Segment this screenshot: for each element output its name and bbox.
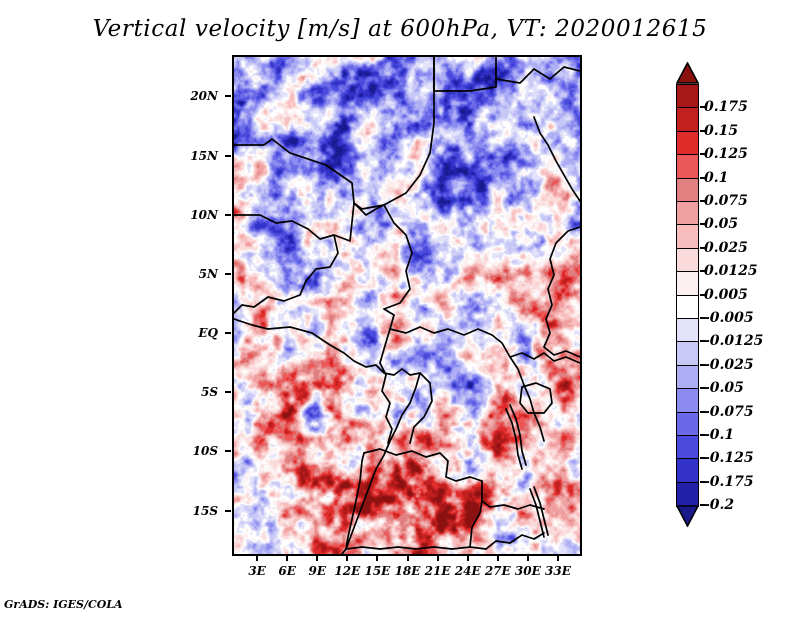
- footer-credit: GrADS: IGES/COLA: [4, 598, 123, 611]
- lon-label-9e: 9E: [308, 564, 326, 578]
- colorbar-label: -0.125: [704, 450, 754, 466]
- colorbar-bin: [676, 224, 699, 249]
- colorbar-label: 0.125: [704, 146, 748, 162]
- colorbar-bin: [676, 341, 699, 366]
- colorbar-label: 0.025: [704, 240, 748, 256]
- colorbar: [676, 62, 699, 555]
- colorbar-bin: [676, 295, 699, 320]
- page-title: Vertical velocity [m/s] at 600hPa, VT: 2…: [0, 16, 800, 42]
- lon-tick: [467, 555, 469, 561]
- colorbar-label: 0.175: [704, 99, 748, 115]
- colorbar-bin: [676, 271, 699, 296]
- colorbar-max-arrow: [676, 62, 699, 84]
- lat-tick: [225, 95, 231, 97]
- colorbar-bin: [676, 388, 699, 413]
- lat-tick: [225, 391, 231, 393]
- colorbar-label: 0.005: [704, 287, 748, 303]
- lon-tick: [256, 555, 258, 561]
- lat-label-10s: 10S: [164, 444, 218, 458]
- colorbar-label: 0.0125: [704, 263, 758, 279]
- colorbar-bin: [676, 154, 699, 179]
- colorbar-label: -0.005: [704, 310, 754, 326]
- lon-tick: [557, 555, 559, 561]
- lon-tick: [437, 555, 439, 561]
- colorbar-bin: [676, 248, 699, 273]
- lat-label-5n: 5N: [164, 267, 218, 281]
- lat-label-15s: 15S: [164, 504, 218, 518]
- colorbar-label: -0.025: [704, 357, 754, 373]
- lon-label-30e: 30E: [515, 564, 541, 578]
- lat-tick: [225, 273, 231, 275]
- lon-label-18e: 18E: [395, 564, 421, 578]
- lat-label-15n: 15N: [164, 149, 218, 163]
- lon-tick: [376, 555, 378, 561]
- lat-tick: [225, 450, 231, 452]
- lon-label-15e: 15E: [364, 564, 390, 578]
- colorbar-bin: [676, 482, 699, 507]
- colorbar-min-arrow: [676, 505, 699, 527]
- colorbar-bin: [676, 178, 699, 203]
- colorbar-label: -0.05: [704, 380, 744, 396]
- colorbar-bin: [676, 201, 699, 226]
- lat-tick: [225, 510, 231, 512]
- lat-tick: [225, 332, 231, 334]
- lat-label-20n: 20N: [164, 89, 218, 103]
- country-borders-overlay: [234, 57, 580, 554]
- lon-tick: [407, 555, 409, 561]
- colorbar-label: -0.1: [704, 427, 734, 443]
- lon-tick: [527, 555, 529, 561]
- lat-label-10n: 10N: [164, 208, 218, 222]
- colorbar-label: -0.2: [704, 497, 734, 513]
- lat-tick: [225, 214, 231, 216]
- colorbar-label: -0.0125: [704, 333, 763, 349]
- map-plot-area: [232, 55, 582, 556]
- lon-label-12e: 12E: [334, 564, 360, 578]
- colorbar-label: -0.175: [704, 474, 754, 490]
- colorbar-bin: [676, 365, 699, 390]
- lon-tick: [346, 555, 348, 561]
- colorbar-bin: [676, 131, 699, 156]
- lon-label-33e: 33E: [545, 564, 571, 578]
- lon-tick: [497, 555, 499, 561]
- lon-label-6e: 6E: [278, 564, 296, 578]
- colorbar-bin: [676, 318, 699, 343]
- lat-tick: [225, 155, 231, 157]
- colorbar-bin: [676, 435, 699, 460]
- colorbar-label: -0.075: [704, 404, 754, 420]
- colorbar-label: 0.15: [704, 123, 738, 139]
- lon-label-21e: 21E: [425, 564, 451, 578]
- lon-tick: [286, 555, 288, 561]
- colorbar-bin: [676, 107, 699, 132]
- lat-label-5s: 5S: [164, 385, 218, 399]
- lon-tick: [316, 555, 318, 561]
- colorbar-bin: [676, 412, 699, 437]
- lon-label-24e: 24E: [455, 564, 481, 578]
- lon-label-3e: 3E: [248, 564, 266, 578]
- colorbar-bin: [676, 84, 699, 109]
- colorbar-label: 0.075: [704, 193, 748, 209]
- colorbar-label: 0.1: [704, 170, 728, 186]
- colorbar-bin: [676, 458, 699, 483]
- lon-label-27e: 27E: [485, 564, 511, 578]
- lat-label-eq: EQ: [164, 326, 218, 340]
- colorbar-label: 0.05: [704, 216, 738, 232]
